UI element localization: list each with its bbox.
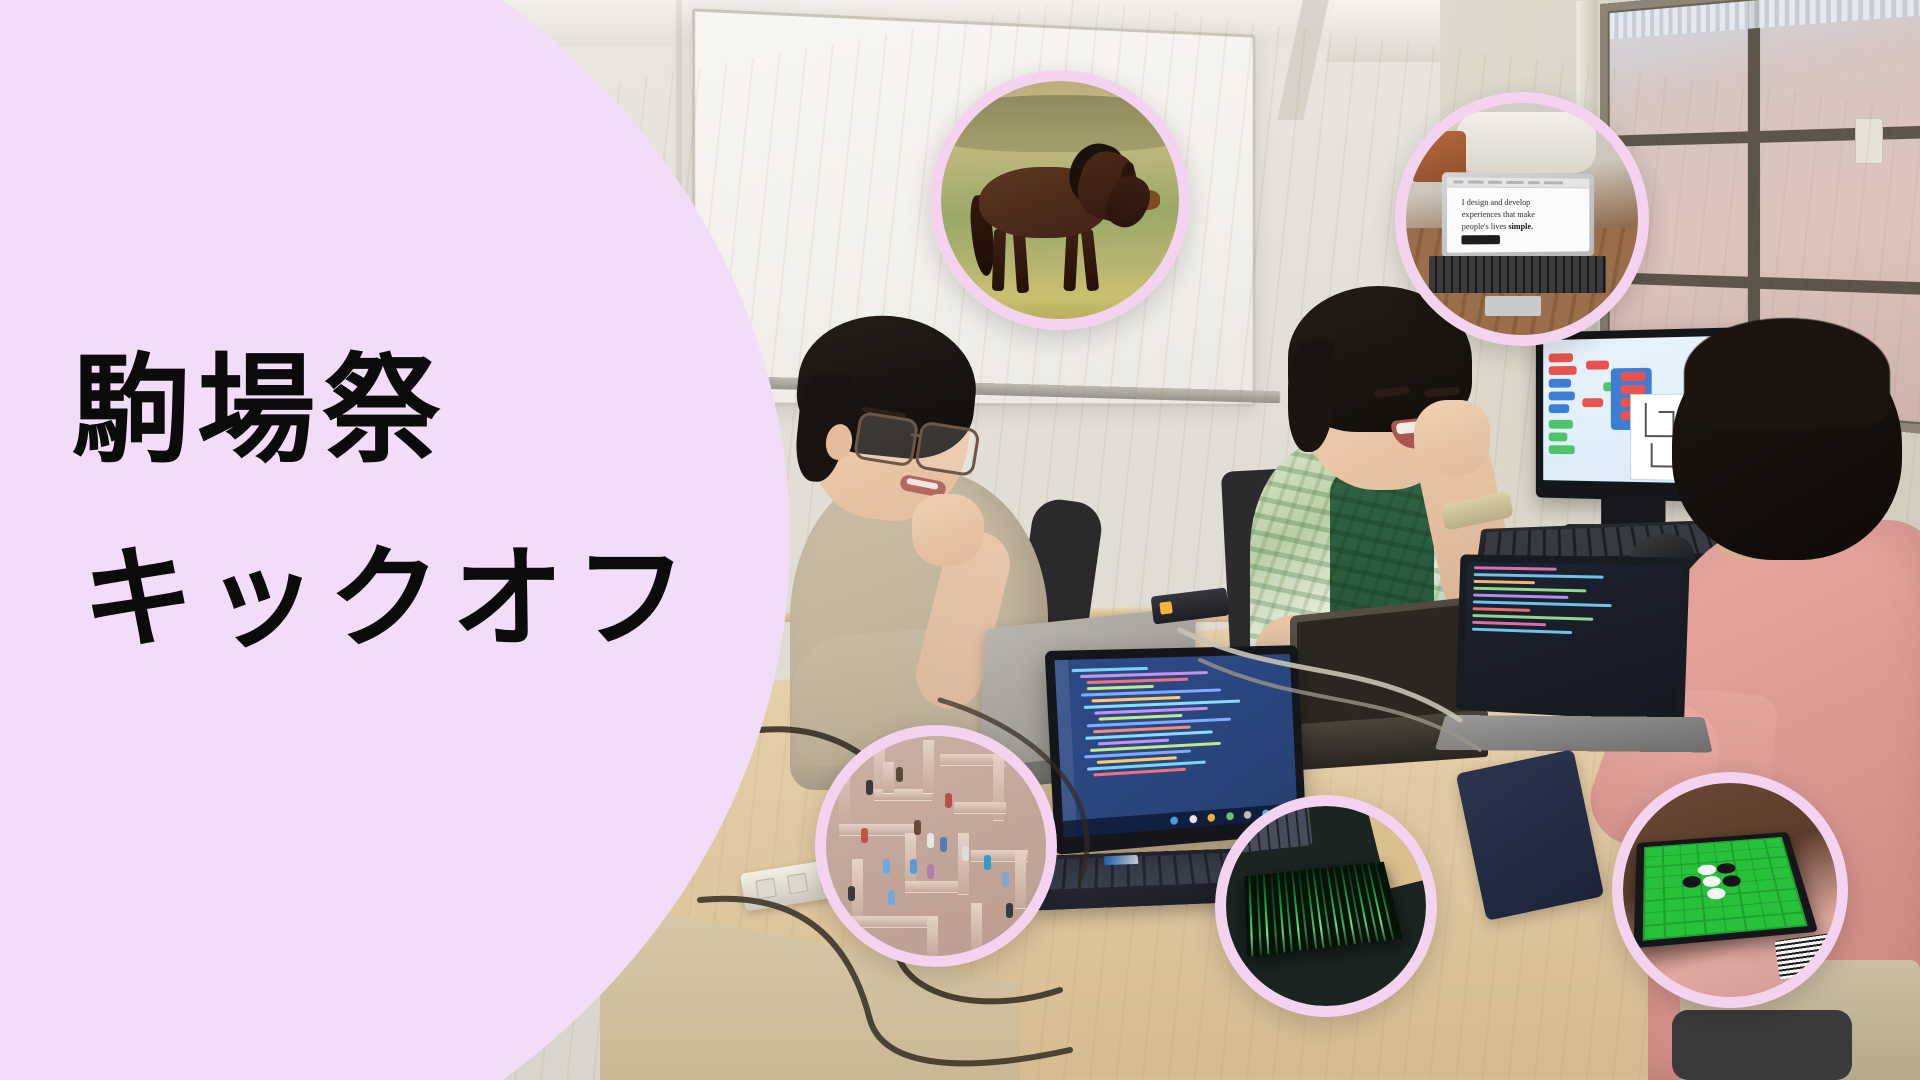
laptop-keyboard (1429, 256, 1605, 293)
chair-right (1672, 1010, 1852, 1080)
laptop-screen-quote: I design and develop experiences that ma… (1462, 196, 1579, 232)
othello-disc-stack (1775, 933, 1835, 979)
horse-photo-bubble[interactable]: horse in a grassy field (930, 70, 1190, 330)
design-laptop-photo-bubble[interactable]: I design and develop experiences that ma… (1395, 92, 1649, 346)
laptop-screen: I design and develop experiences that ma… (1447, 177, 1589, 252)
person-right-hair (1684, 318, 1890, 428)
othello-case (1633, 832, 1817, 948)
maze-photo-bubble[interactable]: people walking in a large wooden maze (815, 725, 1057, 967)
design-laptop-photo: I design and develop experiences that ma… (1406, 103, 1638, 335)
page-title-line-1: 駒場祭 (72, 350, 447, 474)
laptop-trackpad (1485, 296, 1541, 317)
browser-chrome (1447, 177, 1589, 188)
matrix-code-photo-bubble[interactable]: green falling code on a dark screen (1215, 795, 1437, 1017)
banner-canvas:  (0, 0, 1920, 1080)
othello-board[interactable] (1643, 837, 1807, 941)
matrix-photo (1226, 806, 1426, 1006)
othello-photo (1623, 783, 1837, 997)
horse-photo (941, 81, 1179, 319)
person-center-hand (1414, 400, 1490, 476)
quote-bold: simple. (1508, 221, 1533, 230)
quote-line-1: I design and develop (1462, 197, 1530, 206)
maze-photo (826, 736, 1046, 956)
quote-line-3: people's lives (1462, 222, 1509, 231)
sofa (1457, 112, 1596, 172)
othello-photo-bubble[interactable]: green Othello / Reversi board with black… (1612, 772, 1848, 1008)
horse-field (941, 81, 1179, 319)
cta-button[interactable] (1462, 234, 1500, 244)
quote-line-2: experiences that make (1462, 210, 1535, 219)
person-left-hand (912, 494, 984, 566)
laptop: I design and develop experiences that ma… (1442, 172, 1594, 257)
page-title-line-2: キックオフ (82, 540, 698, 658)
window-blind (1610, 0, 1920, 39)
